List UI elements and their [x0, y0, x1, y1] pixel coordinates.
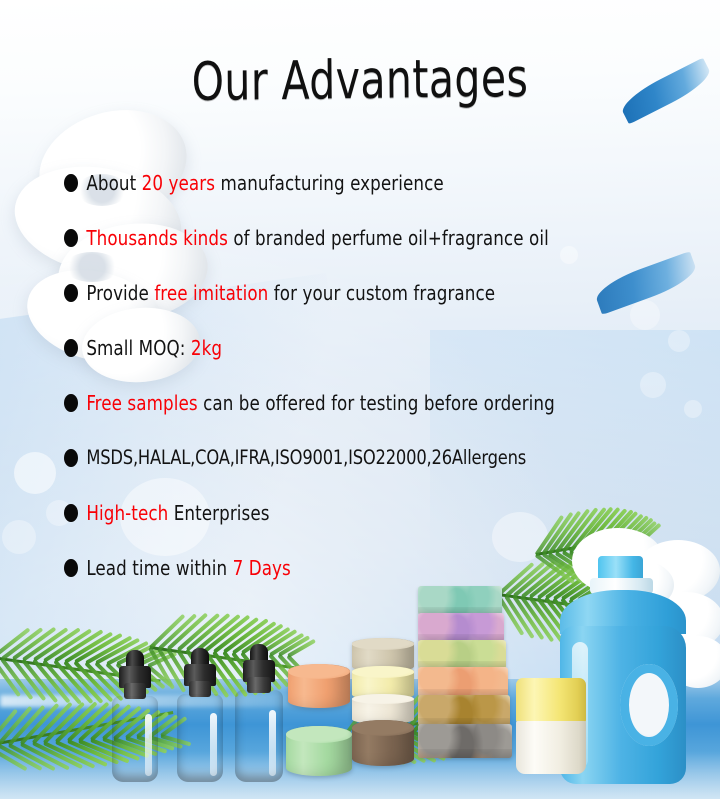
advantage-highlight: 20 years — [142, 171, 215, 195]
advantage-plain: manufacturing experience — [215, 171, 444, 195]
advantage-text: Provide free imitation for your custom f… — [64, 281, 495, 305]
palm-frond — [150, 610, 300, 682]
marbled-soap-slab — [418, 724, 512, 758]
amber-dropper-bottle — [112, 696, 158, 782]
jar-base — [516, 721, 586, 774]
bottle-highlight — [269, 710, 276, 776]
advantage-highlight: free imitation — [154, 281, 268, 305]
bottle-highlight — [145, 714, 152, 776]
advantage-plain: Provide — [86, 281, 154, 305]
brown-round-soap — [352, 720, 414, 766]
marbled-soap-slab — [418, 586, 502, 615]
advantage-highlight: Thousands kinds — [86, 226, 228, 250]
marbled-soap-slab — [418, 640, 506, 669]
marbled-soap-slab — [418, 695, 510, 726]
soap-top-face — [286, 726, 352, 743]
advantage-plain: for your custom fragrance — [268, 281, 495, 305]
advantage-row: Small MOQ: 2kg — [0, 320, 720, 375]
advantage-plain: Small MOQ: — [86, 336, 191, 360]
marbled-soap-slab — [418, 613, 504, 642]
yellow-lid-cream-jar — [516, 678, 586, 774]
jug-handle — [620, 664, 678, 746]
orange-round-soap — [288, 664, 350, 708]
soap-top-face — [352, 720, 414, 736]
advantage-text: High-tech Enterprises — [64, 501, 270, 525]
soap-edge-shadow — [418, 749, 512, 758]
advantage-highlight: Free samples — [86, 391, 197, 415]
advantage-row: Free samples can be offered for testing … — [0, 375, 720, 430]
advantage-text: Free samples can be offered for testing … — [64, 391, 555, 415]
jar-lid — [516, 678, 586, 722]
soap-top-face — [352, 694, 414, 704]
soap-top-face — [352, 638, 414, 650]
soap-top-face — [352, 666, 414, 678]
advantage-row: MSDS,HALAL,COA,IFRA,ISO9001,ISO22000,26A… — [0, 430, 720, 485]
advantage-highlight: 2kg — [191, 336, 222, 360]
soap-top-face — [288, 664, 350, 679]
advantage-plain: can be offered for testing before orderi… — [198, 391, 555, 415]
advantage-text: Small MOQ: 2kg — [64, 336, 222, 360]
advantage-plain: of branded perfume oil+fragrance oil — [228, 226, 549, 250]
advantage-highlight: High-tech — [86, 501, 168, 525]
advantage-text: Thousands kinds of branded perfume oil+f… — [64, 226, 549, 250]
amber-dropper-bottle — [235, 690, 283, 782]
advantage-text: About 20 years manufacturing experience — [64, 171, 444, 195]
advantage-row: About 20 years manufacturing experience — [0, 155, 720, 210]
advantage-plain: MSDS,HALAL,COA,IFRA,ISO9001,ISO22000,26A… — [86, 446, 526, 469]
green-round-soap — [286, 726, 352, 776]
advantage-row: Thousands kinds of branded perfume oil+f… — [0, 210, 720, 265]
amber-dropper-bottle — [177, 694, 223, 782]
advantages-banner: Our Advantages About 20 years manufactur… — [0, 0, 720, 799]
page-title: Our Advantages — [50, 48, 670, 114]
advantage-plain: About — [86, 171, 141, 195]
marbled-soap-slab — [418, 667, 508, 697]
advantage-text: MSDS,HALAL,COA,IFRA,ISO9001,ISO22000,26A… — [64, 446, 526, 470]
bottle-highlight — [210, 713, 217, 776]
advantage-row: Provide free imitation for your custom f… — [0, 265, 720, 320]
advantage-plain: Enterprises — [168, 501, 269, 525]
